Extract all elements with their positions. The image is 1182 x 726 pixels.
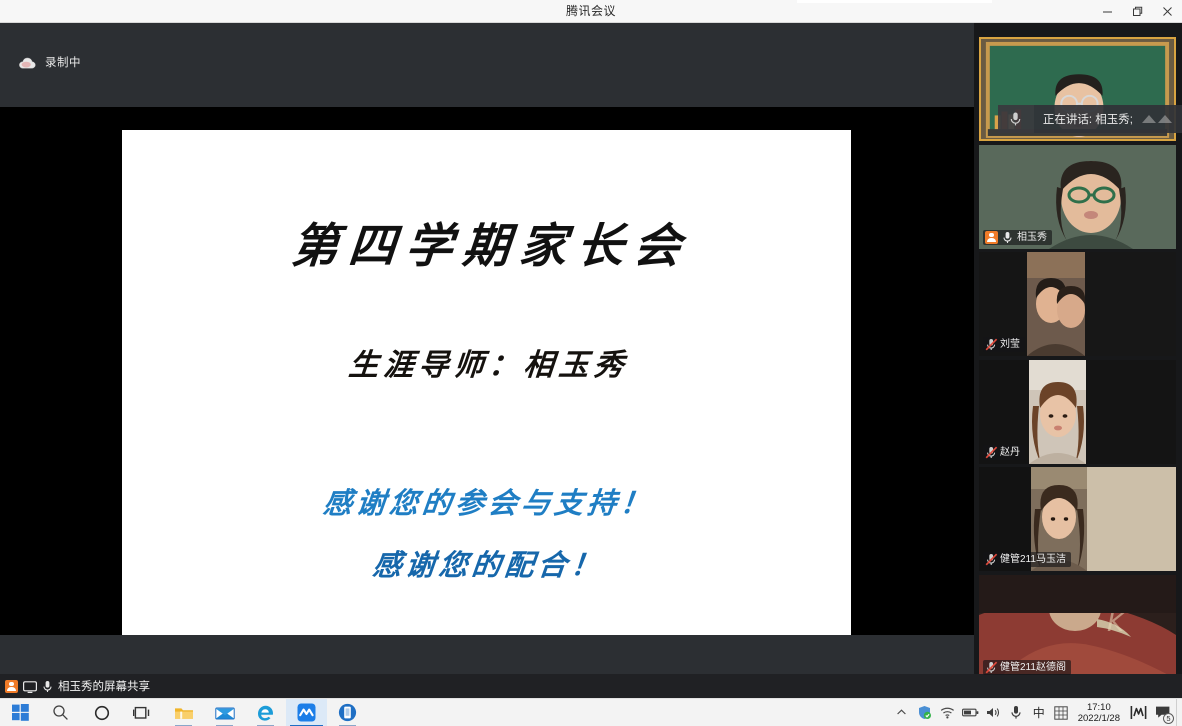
clock-date: 2022/1/28 [1078, 713, 1120, 724]
chart-icon[interactable] [1127, 699, 1150, 726]
speaker-icon[interactable] [982, 699, 1005, 726]
speaking-text: 正在讲话: 相玉秀; [1043, 111, 1133, 127]
notification-count-badge: 5 [1163, 713, 1174, 724]
battery-icon[interactable] [959, 699, 982, 726]
shared-screen-stage: 录制中 第四学期家长会 生涯导师：相玉秀 感谢您的参会与支持！ 感谢您的配合！ [0, 23, 974, 674]
screen-share-chip[interactable]: 相玉秀的屏幕共享 [0, 674, 158, 698]
microphone-muted-icon [985, 338, 996, 351]
clock-time: 17:10 [1087, 702, 1111, 713]
window-title: 腾讯会议 [0, 0, 1182, 22]
show-desktop-button[interactable] [1176, 699, 1182, 726]
tencent-meeting-window: 腾讯会议 [0, 0, 1182, 726]
participant-name: 赵丹 [1000, 446, 1020, 459]
participant-name: 健管211赵德阁 [1000, 661, 1066, 674]
slide-subtitle: 生涯导师：相玉秀 [122, 340, 851, 384]
search-icon[interactable] [40, 699, 81, 726]
participant-name: 健管211马玉洁 [1000, 553, 1066, 566]
slide-thanks-line-2: 感谢您的配合！ [122, 542, 851, 584]
microphone-icon [42, 680, 53, 693]
screen-share-status-bar: 相玉秀的屏幕共享 [0, 674, 1182, 698]
host-badge-icon [5, 680, 18, 693]
presentation-slide: 第四学期家长会 生涯导师：相玉秀 感谢您的参会与支持！ 感谢您的配合！ [122, 130, 851, 635]
participant-tile[interactable]: 刘莹 [979, 252, 1176, 356]
slide-title: 第四学期家长会 [122, 207, 851, 276]
tencent-meeting-icon[interactable] [286, 699, 327, 726]
participant-name: 刘莹 [1000, 338, 1020, 351]
participant-name: 相玉秀 [1017, 231, 1047, 244]
folder-icon[interactable] [163, 699, 204, 726]
microphone-muted-icon [985, 446, 996, 459]
screen-share-icon [23, 680, 37, 692]
audio-wave-icon [1142, 115, 1172, 123]
notifications-button[interactable]: 5 [1150, 699, 1176, 726]
recording-indicator: 录制中 [18, 54, 81, 70]
participant-nametag: 健管211马玉洁 [983, 552, 1071, 567]
keyboard-icon[interactable] [1050, 699, 1073, 726]
participant-nametag: 相玉秀 [983, 230, 1052, 245]
microphone-muted-icon [985, 661, 996, 674]
close-button[interactable] [1152, 1, 1182, 23]
microphone-icon [1002, 231, 1013, 244]
participant-nametag: 赵丹 [983, 445, 1025, 460]
participant-nametag: 健管211赵德阁 [983, 660, 1071, 675]
maximize-restore-button[interactable] [1122, 1, 1152, 23]
chevron-up-icon[interactable] [890, 699, 913, 726]
edge-icon[interactable] [245, 699, 286, 726]
cloud-icon [18, 56, 36, 69]
reader-icon[interactable] [327, 699, 368, 726]
microphone-muted-icon [985, 553, 996, 566]
participant-tile[interactable]: 赵丹 [979, 360, 1176, 464]
speaking-mic-icon [998, 105, 1034, 133]
participant-tile[interactable]: K 健管211赵德阁 [979, 575, 1176, 679]
wifi-icon[interactable] [936, 699, 959, 726]
speaking-overlay: 正在讲话: 相玉秀; [998, 105, 1182, 133]
speaking-body: 正在讲话: 相玉秀; [1034, 105, 1182, 133]
ime-language-indicator[interactable]: 中 [1028, 699, 1050, 726]
recording-label: 录制中 [45, 54, 81, 70]
microphone-icon[interactable] [1005, 699, 1028, 726]
system-tray: 中 17:10 2022/1/28 [890, 699, 1182, 726]
task-view-icon[interactable] [122, 699, 163, 726]
windows-taskbar: 中 17:10 2022/1/28 [0, 698, 1182, 726]
participant-nametag: 刘莹 [983, 337, 1025, 352]
host-badge-icon [985, 231, 998, 244]
window-controls [1092, 0, 1182, 23]
start-icon[interactable] [0, 699, 40, 726]
participant-tile[interactable]: 相玉秀 [979, 145, 1176, 249]
screen-share-label: 相玉秀的屏幕共享 [58, 678, 150, 694]
participant-tile[interactable]: 健管211马玉洁 [979, 467, 1176, 571]
minimize-button[interactable] [1092, 1, 1122, 23]
circle-icon[interactable] [81, 699, 122, 726]
title-bar: 腾讯会议 [0, 0, 1182, 23]
taskbar-clock[interactable]: 17:10 2022/1/28 [1073, 699, 1127, 726]
slide-thanks-line-1: 感谢您的参会与支持！ [122, 480, 851, 522]
mail-icon[interactable] [204, 699, 245, 726]
shield-icon[interactable] [913, 699, 936, 726]
